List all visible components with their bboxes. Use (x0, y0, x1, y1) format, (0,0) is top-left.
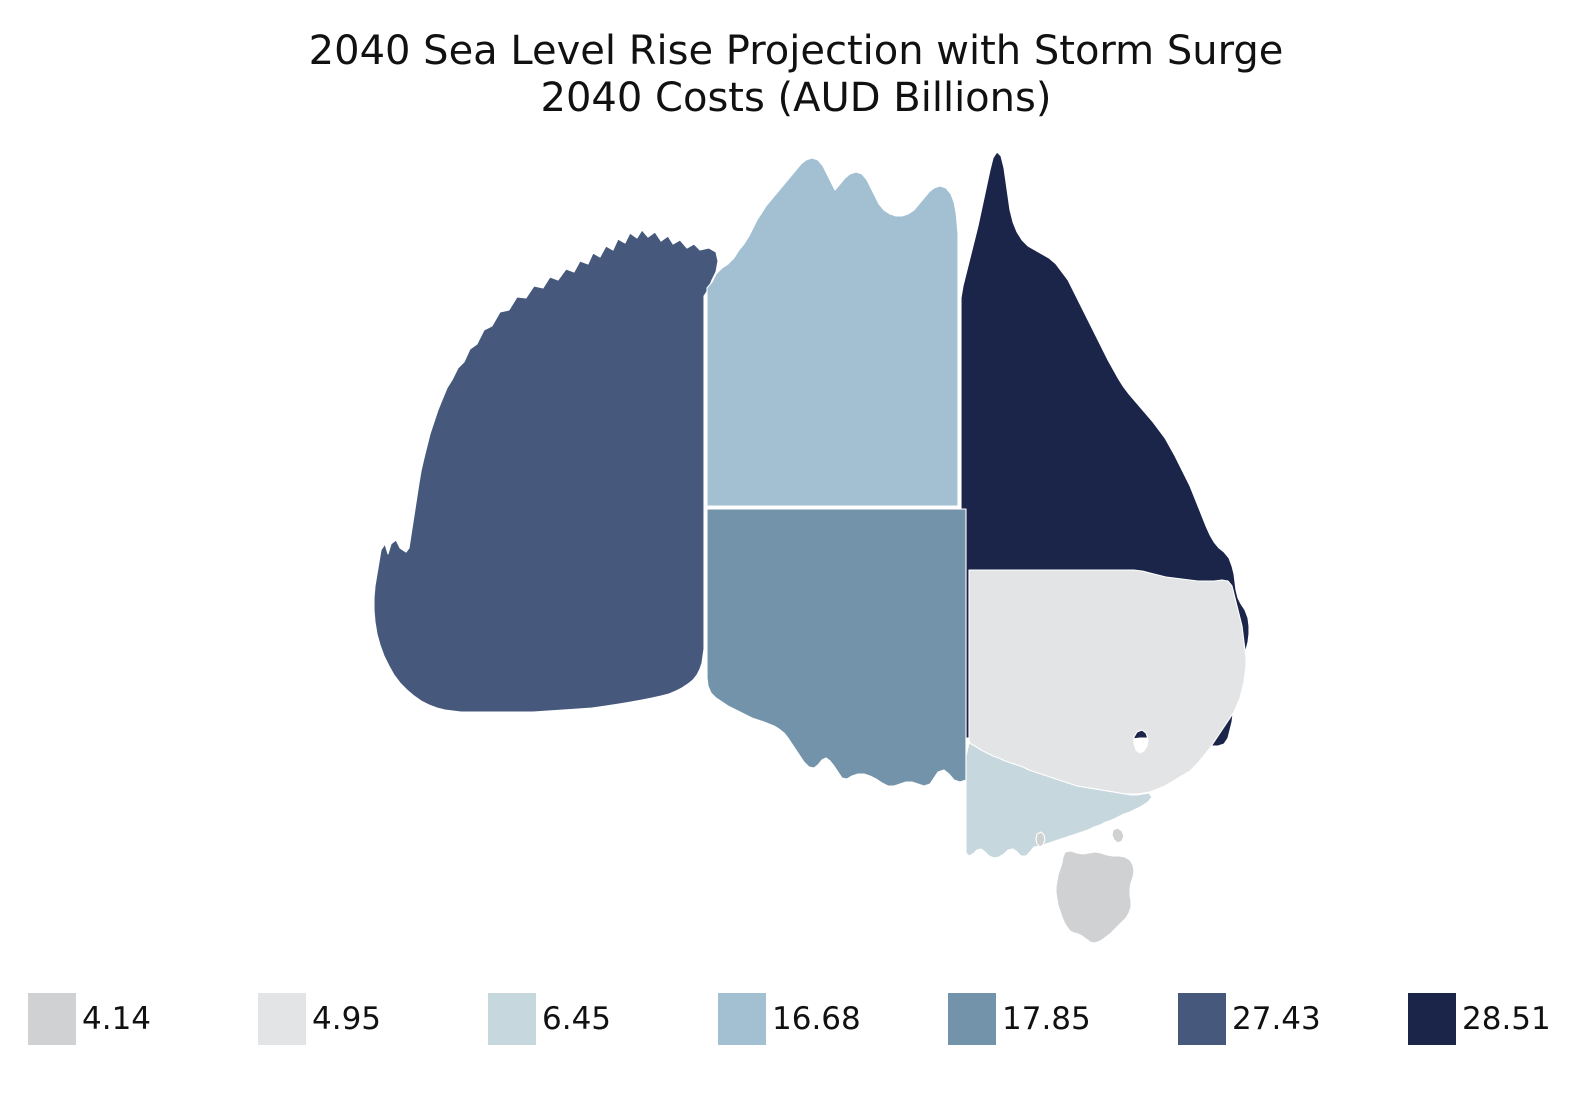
legend-item[interactable]: 16.68 (718, 993, 861, 1045)
legend-item[interactable]: 27.43 (1178, 993, 1321, 1045)
map-canvas (0, 140, 1592, 960)
figure-title: 2040 Sea Level Rise Projection with Stor… (0, 28, 1592, 122)
title-line-secondary: 2040 Costs (AUD Billions) (0, 75, 1592, 122)
legend-swatch-icon (488, 993, 536, 1045)
legend-item[interactable]: 28.51 (1408, 993, 1551, 1045)
legend-swatch-icon (1408, 993, 1456, 1045)
legend-item-label: 4.14 (82, 1004, 151, 1035)
legend-item-label: 17.85 (1002, 1004, 1091, 1035)
legend-item[interactable]: 6.45 (488, 993, 611, 1045)
legend-item-label: 6.45 (542, 1004, 611, 1035)
legend-swatch-icon (258, 993, 306, 1045)
map-region-new-south-wales[interactable] (969, 570, 1246, 794)
map-region-northern-territory[interactable] (707, 158, 958, 506)
legend-item-label: 28.51 (1462, 1004, 1551, 1035)
choropleth-map-figure: 2040 Sea Level Rise Projection with Stor… (0, 0, 1592, 1100)
legend-swatch-icon (1178, 993, 1226, 1045)
legend-swatch-icon (718, 993, 766, 1045)
title-line-primary: 2040 Sea Level Rise Projection with Stor… (0, 28, 1592, 75)
map-region-south-australia[interactable] (707, 509, 966, 786)
legend: 4.14 4.95 6.45 16.68 17.85 27.43 28.51 (0, 975, 1592, 1055)
australia-map-svg (0, 140, 1592, 960)
legend-item[interactable]: 17.85 (948, 993, 1091, 1045)
map-region-western-australia[interactable] (374, 230, 718, 712)
legend-item-label: 27.43 (1232, 1004, 1321, 1035)
legend-item-label: 16.68 (772, 1004, 861, 1035)
legend-item-label: 4.95 (312, 1004, 381, 1035)
legend-item[interactable]: 4.95 (258, 993, 381, 1045)
legend-item[interactable]: 4.14 (28, 993, 151, 1045)
map-region-tasmania[interactable] (1036, 828, 1134, 943)
legend-swatch-icon (28, 993, 76, 1045)
legend-swatch-icon (948, 993, 996, 1045)
